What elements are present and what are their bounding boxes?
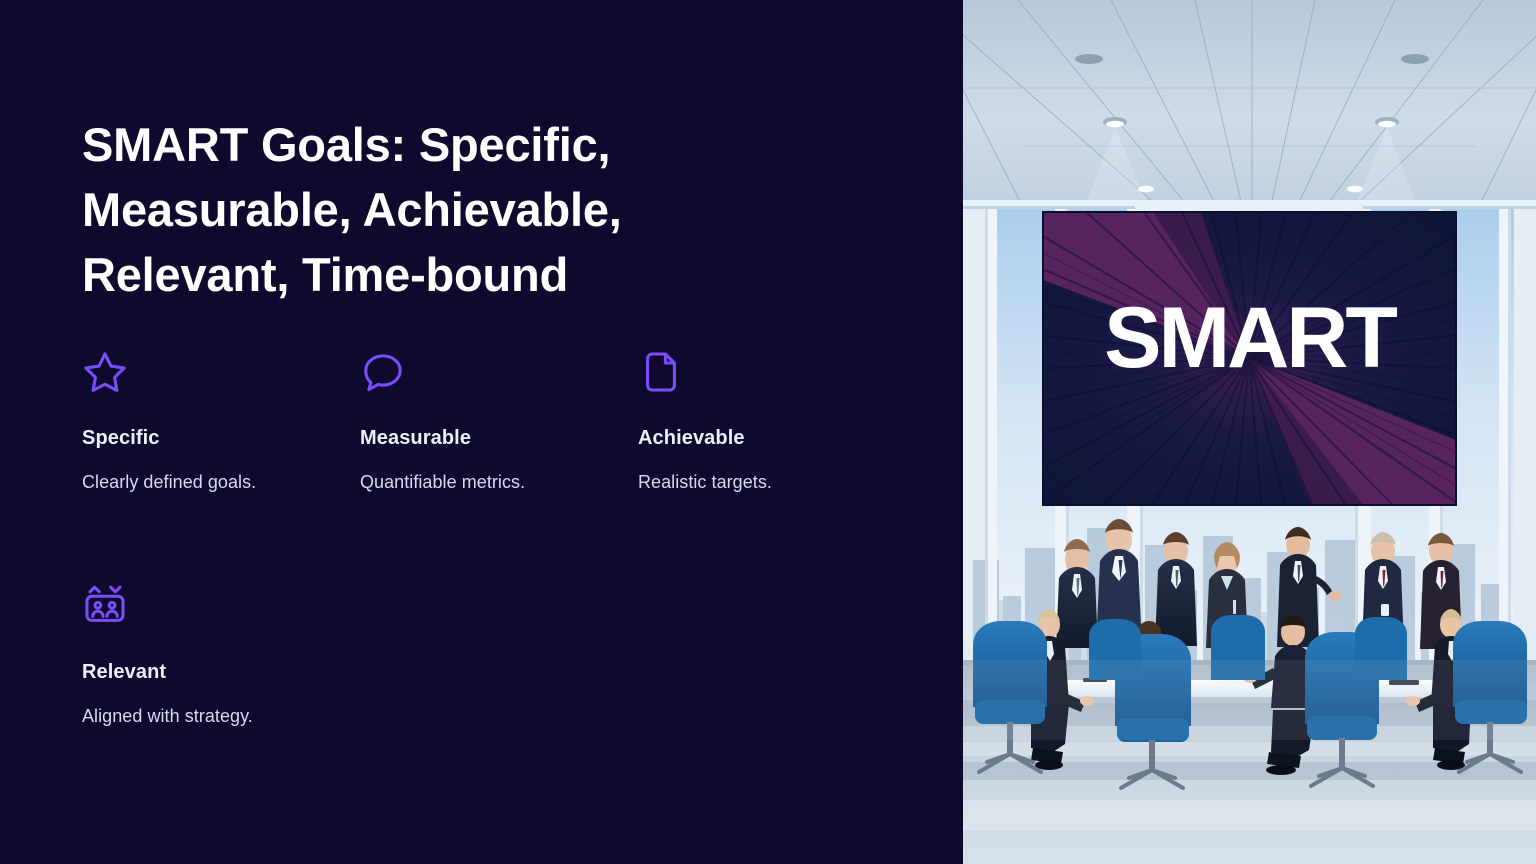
page-title: SMART Goals: Specific, Measurable, Achie…: [82, 112, 782, 307]
file-document-icon: [638, 349, 684, 399]
content-panel: SMART Goals: Specific, Measurable, Achie…: [0, 0, 963, 864]
feature-title: Measurable: [360, 427, 610, 450]
feature-title: Relevant: [82, 661, 332, 684]
feature-item-relevant: Relevant Aligned with strategy.: [82, 583, 332, 817]
slide-root: SMART Goals: Specific, Measurable, Achie…: [0, 0, 1536, 864]
speech-bubble-icon: [360, 349, 406, 399]
feature-description: Aligned with strategy.: [82, 706, 332, 727]
feature-item-specific: Specific Clearly defined goals.: [82, 349, 332, 583]
feature-item-achievable: Achievable Realistic targets.: [638, 349, 888, 583]
feature-title: Achievable: [638, 427, 888, 450]
feature-title: Specific: [82, 427, 332, 450]
feature-description: Realistic targets.: [638, 472, 888, 493]
feature-description: Quantifiable metrics.: [360, 472, 610, 493]
users-group-icon: [82, 583, 128, 633]
office-scene-illustration: [963, 0, 1536, 864]
features-grid: Specific Clearly defined goals. Measurab…: [82, 349, 922, 817]
feature-description: Clearly defined goals.: [82, 472, 332, 493]
feature-item-measurable: Measurable Quantifiable metrics.: [360, 349, 610, 583]
conference-room-photo: SMART: [963, 0, 1536, 864]
star-icon: [82, 349, 128, 399]
